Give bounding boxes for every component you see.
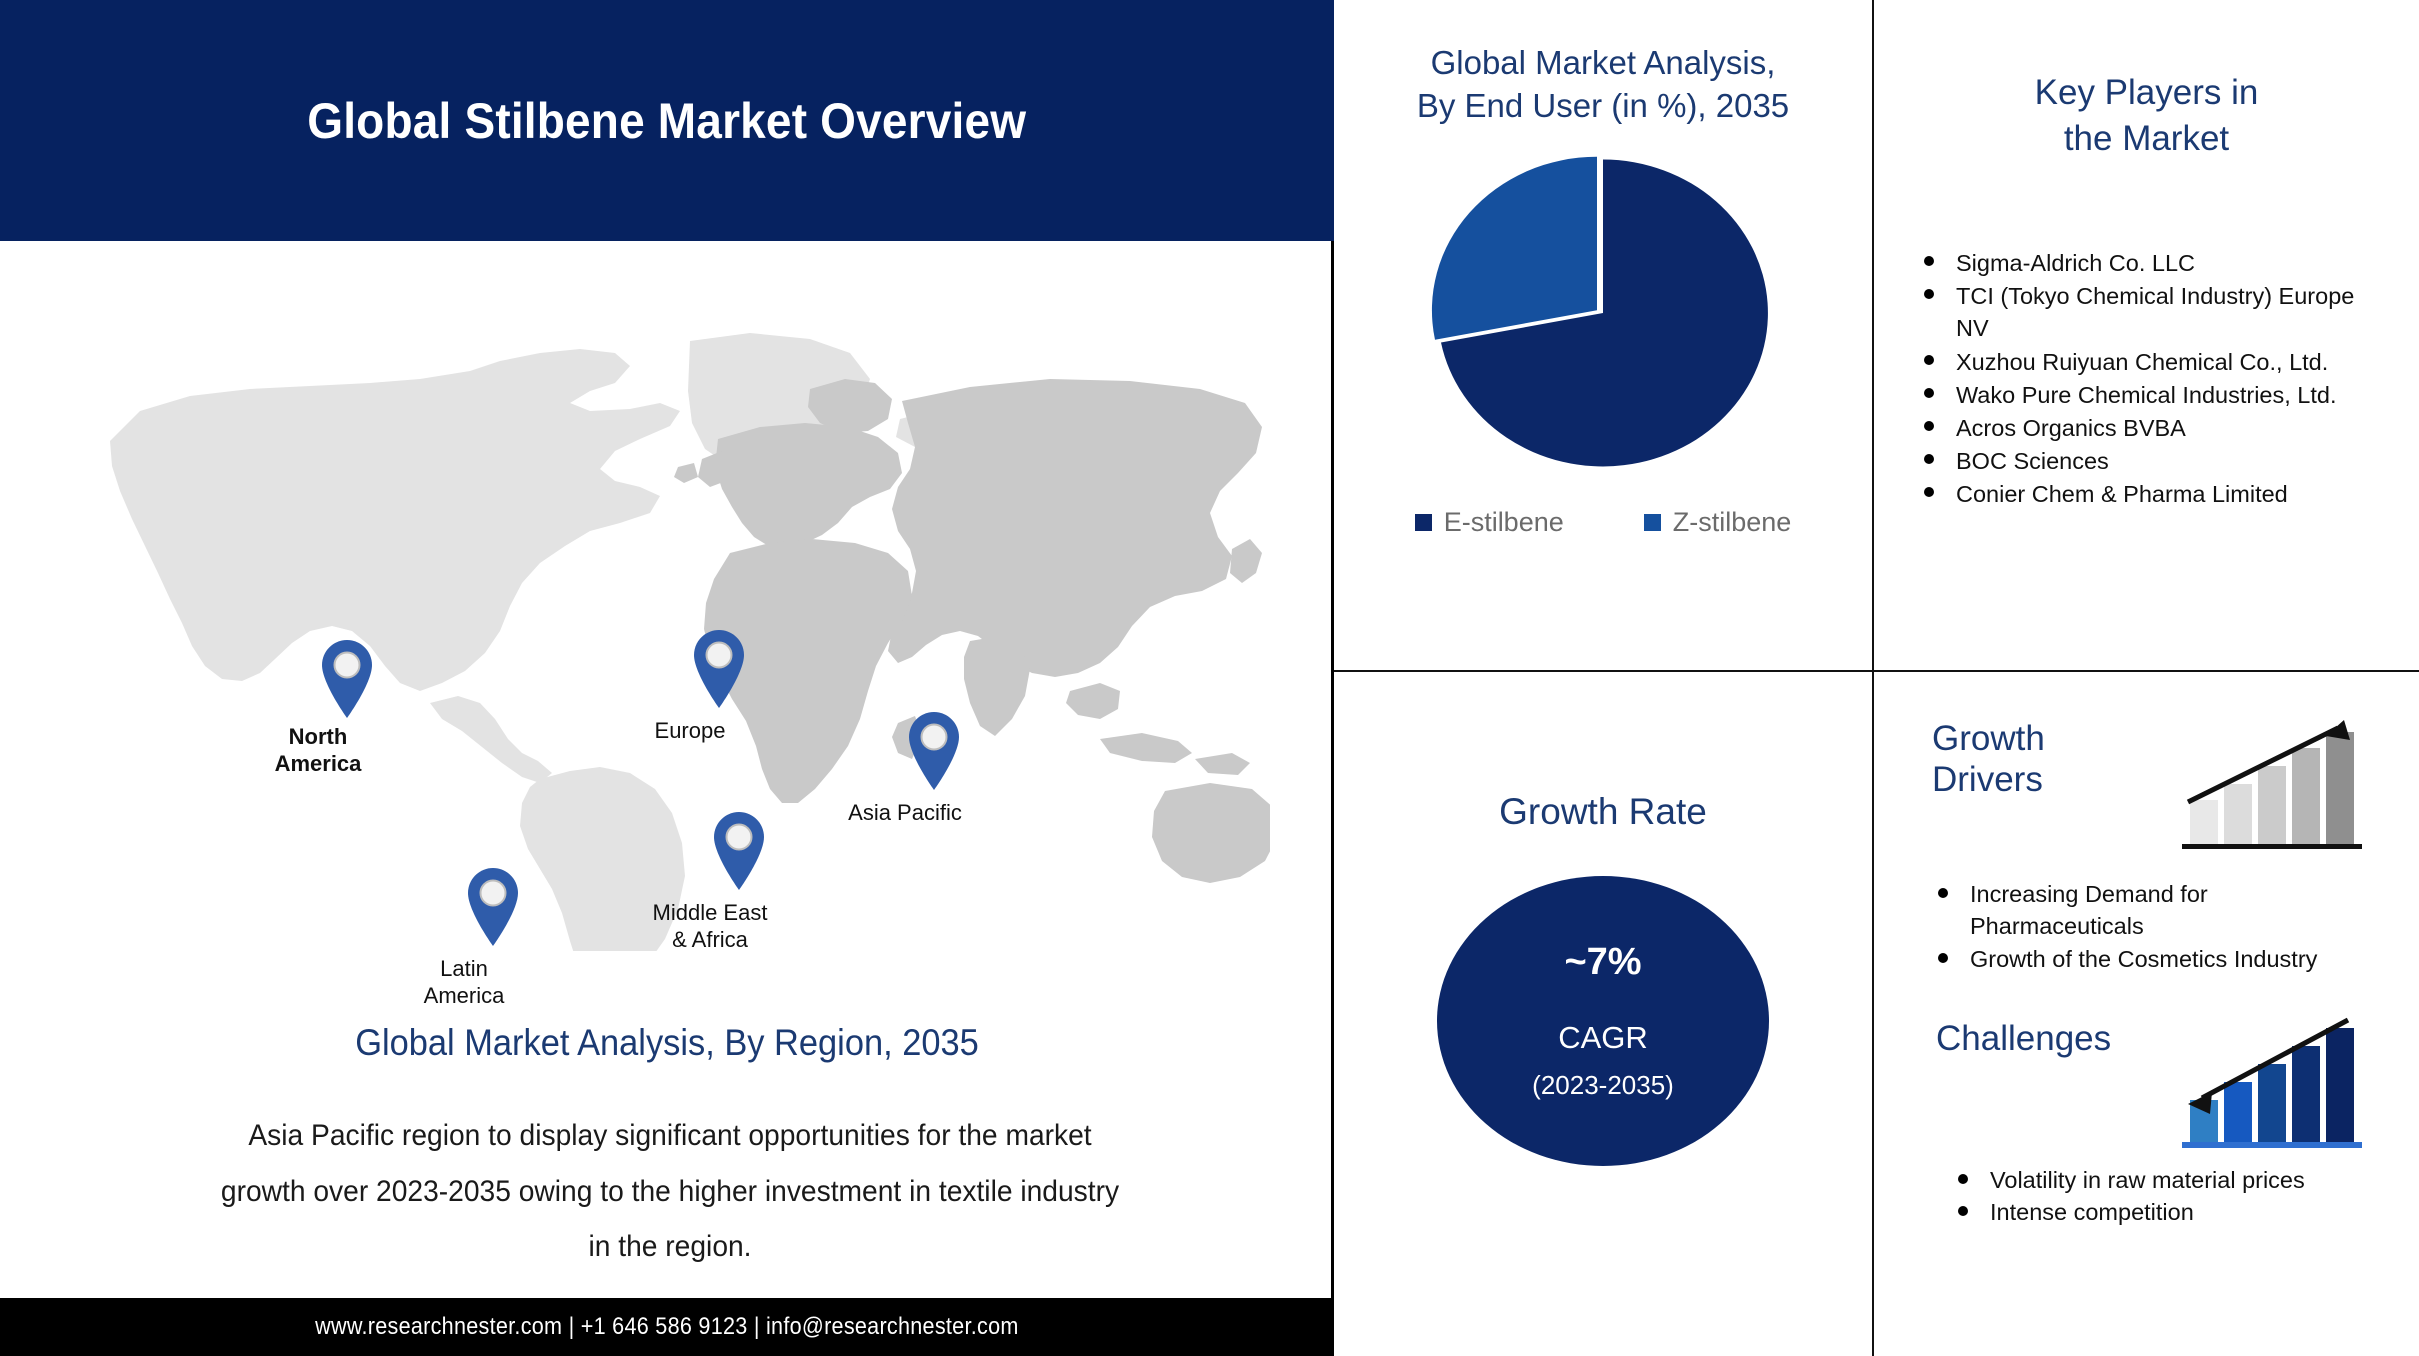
map-pin-north-america[interactable] <box>318 639 376 719</box>
legend-swatch-e-stilbene <box>1415 514 1432 531</box>
legend-label-e-stilbene: E-stilbene <box>1444 507 1564 538</box>
challenges-list: Volatility in raw material prices Intens… <box>1952 1164 2382 1229</box>
challenges-title: Challenges <box>1936 1018 2111 1059</box>
downward-bar-chart-icon <box>2172 994 2372 1154</box>
upward-bar-chart-icon <box>2172 696 2372 856</box>
growth-rate-title: Growth Rate <box>1334 788 1872 836</box>
world-map <box>70 291 1270 951</box>
growth-drivers-title: Growth Drivers <box>1932 718 2045 801</box>
list-item: Growth of the Cosmetics Industry <box>1932 943 2362 975</box>
list-item: Intense competition <box>1952 1196 2382 1228</box>
drivers-challenges-panel: Growth Drivers Increasing Demand for Pha… <box>1874 672 2419 1356</box>
pie-chart-svg <box>1423 146 1783 481</box>
page-title: Global Stilbene Market Overview <box>308 92 1027 150</box>
region-analysis-paragraph: Asia Pacific region to display significa… <box>219 1108 1121 1275</box>
list-item: Wako Pure Chemical Industries, Ltd. <box>1918 379 2388 411</box>
left-panel: Global Stilbene Market Overview <box>0 0 1334 1356</box>
legend-label-z-stilbene: Z-stilbene <box>1673 507 1792 538</box>
pie-chart-title: Global Market Analysis, By End User (in … <box>1334 42 1872 128</box>
list-item: Volatility in raw material prices <box>1952 1164 2382 1196</box>
map-pin-middle-east-africa[interactable] <box>710 811 768 891</box>
map-label-middle-east-africa: Middle East & Africa <box>600 899 820 954</box>
pie-chart <box>1423 146 1783 481</box>
list-item: Acros Organics BVBA <box>1918 412 2388 444</box>
legend-swatch-z-stilbene <box>1644 514 1661 531</box>
map-pin-asia-pacific[interactable] <box>905 711 963 791</box>
footer-contact-text: www.researchnester.com | +1 646 586 9123… <box>315 1313 1019 1341</box>
header-bar: Global Stilbene Market Overview <box>0 0 1334 241</box>
world-map-section: North America Europe Asia Pacific Middle… <box>0 241 1334 1001</box>
legend-item-z-stilbene[interactable]: Z-stilbene <box>1644 507 1792 538</box>
map-pin-latin-america[interactable] <box>464 867 522 947</box>
map-pin-europe[interactable] <box>690 629 748 709</box>
pie-legend: E-stilbene Z-stilbene <box>1334 507 1872 538</box>
map-label-europe: Europe <box>580 717 800 744</box>
map-label-north-america: North America <box>208 723 428 778</box>
region-analysis-heading: Global Market Analysis, By Region, 2035 <box>47 1022 1288 1064</box>
list-item: TCI (Tokyo Chemical Industry) Europe NV <box>1918 280 2388 344</box>
list-item: BOC Sciences <box>1918 445 2388 477</box>
key-players-list: Sigma-Aldrich Co. LLC TCI (Tokyo Chemica… <box>1918 247 2388 511</box>
map-label-latin-america: Latin America <box>354 955 574 1010</box>
growth-rate-panel: Growth Rate ~7% CAGR (2023-2035) <box>1334 672 1874 1356</box>
footer-bar: www.researchnester.com | +1 646 586 9123… <box>0 1298 1334 1356</box>
list-item: Xuzhou Ruiyuan Chemical Co., Ltd. <box>1918 346 2388 378</box>
cagr-value: ~7% <box>1564 941 1641 984</box>
legend-item-e-stilbene[interactable]: E-stilbene <box>1415 507 1564 538</box>
end-user-pie-panel: Global Market Analysis, By End User (in … <box>1334 0 1874 672</box>
list-item: Sigma-Aldrich Co. LLC <box>1918 247 2388 279</box>
cagr-period: (2023-2035) <box>1532 1070 1674 1101</box>
cagr-label: CAGR <box>1558 1020 1648 1056</box>
growth-drivers-list: Increasing Demand for Pharmaceuticals Gr… <box>1932 878 2362 975</box>
infographic-page: Global Stilbene Market Overview <box>0 0 2419 1356</box>
cagr-circle: ~7% CAGR (2023-2035) <box>1437 876 1769 1166</box>
key-players-title: Key Players in the Market <box>1874 70 2419 161</box>
list-item: Conier Chem & Pharma Limited <box>1918 478 2388 510</box>
key-players-panel: Key Players in the Market Sigma-Aldrich … <box>1874 0 2419 672</box>
list-item: Increasing Demand for Pharmaceuticals <box>1932 878 2362 943</box>
map-label-asia-pacific: Asia Pacific <box>795 799 1015 826</box>
